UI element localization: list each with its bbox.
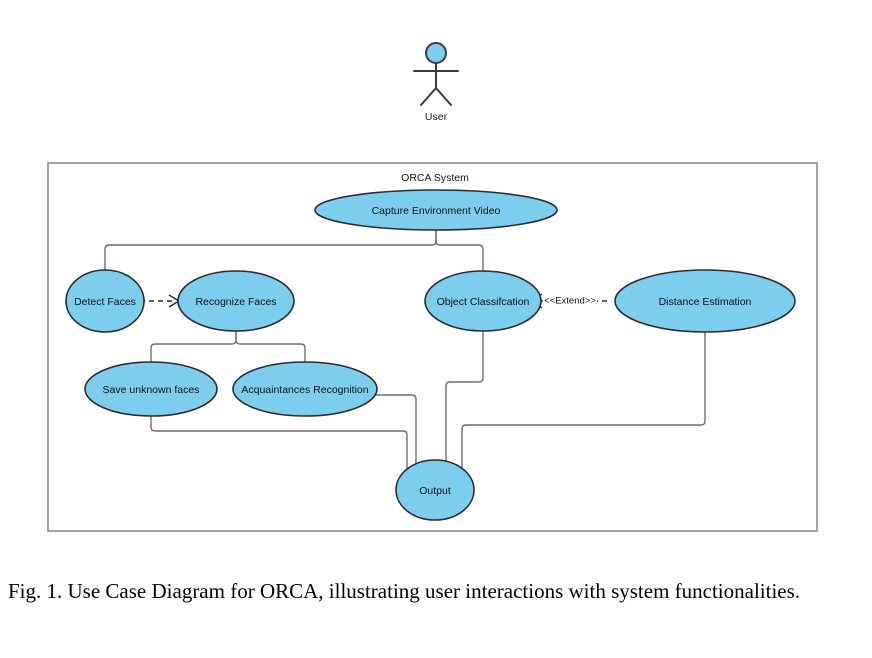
actor-head-icon — [426, 43, 446, 63]
actor-right-leg-line — [436, 88, 451, 105]
actor-user: User — [414, 43, 458, 123]
use-case-diagram-canvas: User ORCA System Capture Environment — [0, 0, 872, 560]
use-case-label: Detect Faces — [74, 296, 136, 308]
connector-capture-to-detect — [105, 226, 436, 272]
use-case-label: Output — [419, 485, 451, 497]
use-case-figure: User ORCA System Capture Environment — [0, 0, 872, 658]
use-case-capture-environment-video[interactable]: Capture Environment Video — [315, 190, 557, 230]
use-case-object-classifcation[interactable]: Object Classifcation — [425, 271, 541, 331]
connector-recognize-to-save-unknown — [151, 330, 236, 363]
connector-distance-to-output — [462, 330, 705, 470]
use-case-label: Object Classifcation — [437, 296, 530, 308]
use-case-detect-faces[interactable]: Detect Faces — [66, 270, 144, 332]
use-case-label: Recognize Faces — [195, 296, 276, 308]
actor-label: User — [425, 111, 448, 123]
extend-relationship-label: <<Extend>> — [544, 296, 596, 307]
connector-acquaintances-to-output — [373, 395, 416, 470]
connector-object-to-output — [446, 330, 483, 470]
use-case-distance-estimation[interactable]: Distance Estimation — [615, 270, 795, 332]
figure-caption: Fig. 1. Use Case Diagram for ORCA, illus… — [8, 578, 864, 605]
use-case-save-unknown-faces[interactable]: Save unknown faces — [85, 362, 217, 416]
use-case-output[interactable]: Output — [396, 460, 474, 520]
use-case-label: Distance Estimation — [659, 296, 752, 308]
use-case-recognize-faces[interactable]: Recognize Faces — [178, 271, 294, 331]
use-case-label: Capture Environment Video — [372, 205, 501, 217]
use-case-label: Save unknown faces — [103, 384, 200, 396]
use-case-label: Acquaintances Recognition — [241, 384, 368, 396]
use-case-acquaintances-recognition[interactable]: Acquaintances Recognition — [233, 362, 377, 416]
system-boundary-label: ORCA System — [401, 172, 469, 184]
connector-save-unknown-to-output — [151, 415, 407, 470]
connector-capture-to-object — [436, 226, 483, 272]
connector-recognize-to-acquaintances — [236, 330, 305, 363]
actor-left-leg-line — [421, 88, 436, 105]
